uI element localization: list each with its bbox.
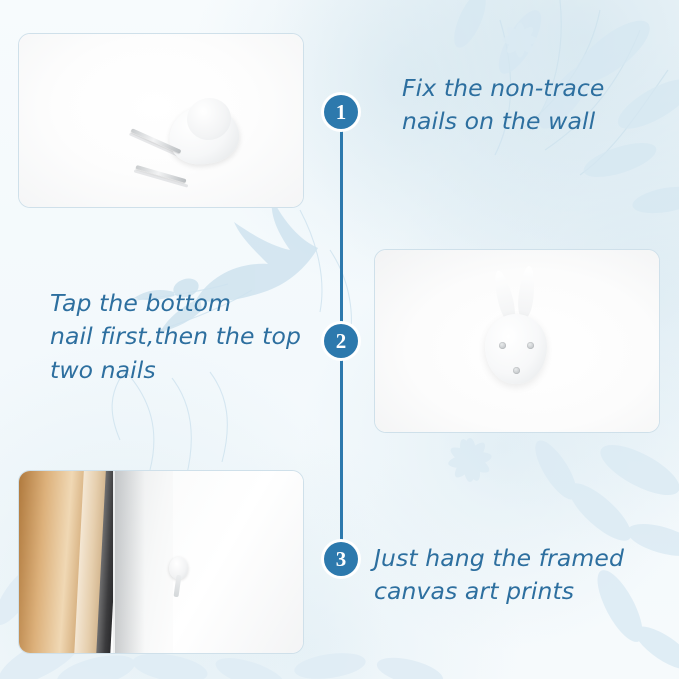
step-3-photo-card xyxy=(18,470,304,654)
step-1-caption-line-2: nails on the wall xyxy=(402,105,657,138)
screw-head-top-left xyxy=(499,342,506,349)
screw-head-bottom xyxy=(513,367,520,374)
step-badge-2: 2 xyxy=(324,324,358,358)
step-2-caption-line-2: nail first,then the top xyxy=(50,320,312,353)
step-3-caption: Just hang the framed canvas art prints xyxy=(374,542,664,609)
step-1-caption: Fix the non-trace nails on the wall xyxy=(402,72,657,139)
step-2-caption: Tap the bottom nail first,then the top t… xyxy=(50,287,312,387)
step-3-caption-line-1: Just hang the framed xyxy=(374,542,664,575)
step-2-photo-card xyxy=(374,249,660,433)
step-1-caption-line-1: Fix the non-trace xyxy=(402,72,657,105)
step-1-photo xyxy=(19,34,303,207)
step-2-caption-line-1: Tap the bottom xyxy=(50,287,312,320)
screw-head-top-right xyxy=(527,342,534,349)
infographic-canvas: 1 2 3 xyxy=(0,0,679,679)
step-1-photo-card xyxy=(18,33,304,208)
step-2-caption-line-3: two nails xyxy=(50,354,312,387)
step-badge-3: 3 xyxy=(324,542,358,576)
frame-shadow xyxy=(115,471,145,653)
step-3-caption-line-2: canvas art prints xyxy=(374,575,664,608)
wall-surface xyxy=(19,34,303,207)
step-2-photo xyxy=(375,250,659,432)
step-badge-1: 1 xyxy=(324,95,358,129)
step-3-photo xyxy=(19,471,303,653)
